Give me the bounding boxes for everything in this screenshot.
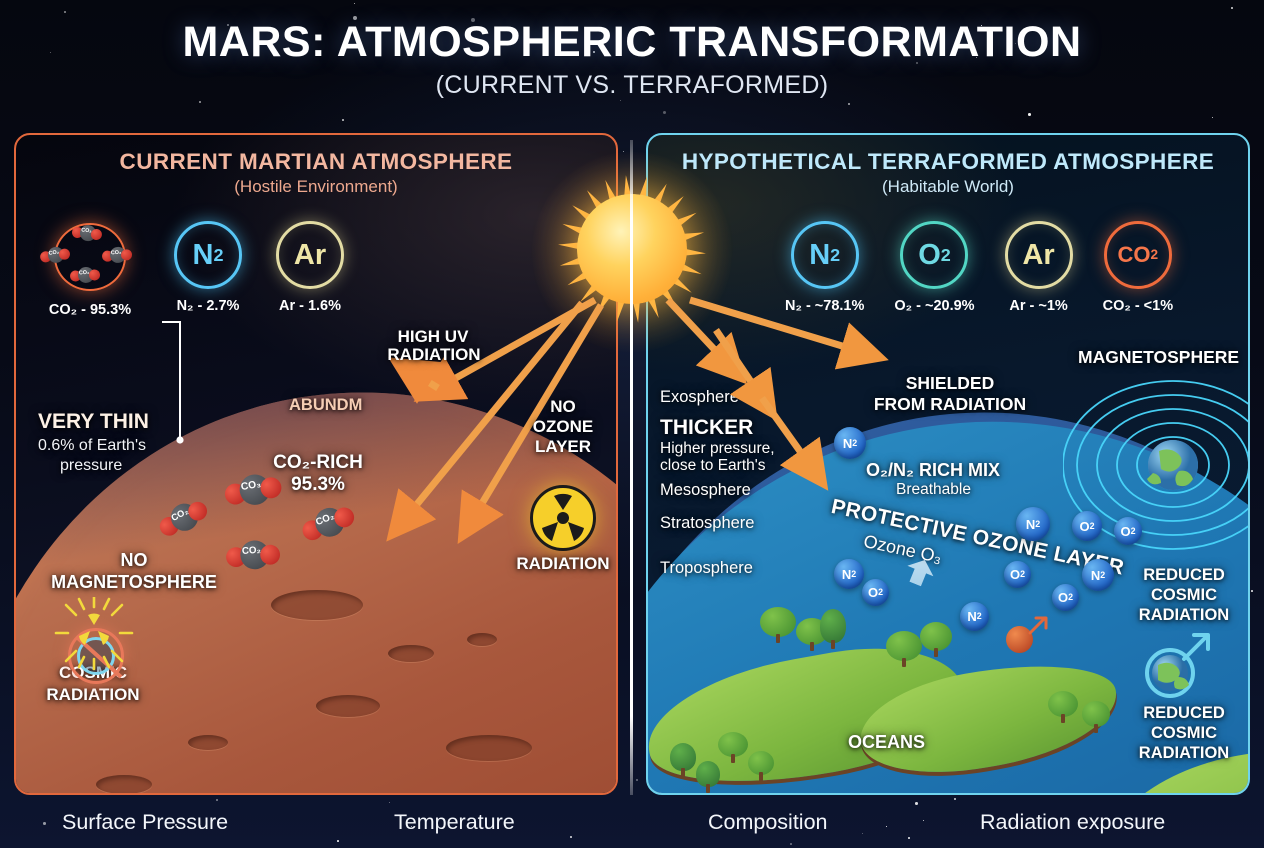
reduced-cosmic-top-1: REDUCED bbox=[1116, 566, 1250, 585]
o2-ring-icon: O2 bbox=[900, 221, 968, 289]
page-subtitle: (CURRENT VS. TERRAFORMED) bbox=[0, 71, 1264, 100]
crater bbox=[467, 633, 497, 646]
panel-divider bbox=[630, 140, 633, 795]
thicker-sub-2: close to Earth's bbox=[660, 457, 765, 475]
molecule-ar[interactable]: Ar Ar - ~1% bbox=[1005, 221, 1073, 314]
right-panel-header: HYPOTHETICAL TERRAFORMED ATMOSPHERE (Hab… bbox=[648, 149, 1248, 197]
very-thin-label: VERY THIN bbox=[38, 410, 149, 434]
left-panel-title: CURRENT MARTIAN ATMOSPHERE bbox=[16, 149, 616, 175]
shielded-line-2: FROM RADIATION bbox=[840, 394, 1060, 415]
footer-item-surface-pressure[interactable]: Surface Pressure bbox=[62, 810, 228, 835]
tree-icon bbox=[1048, 691, 1078, 723]
molecule-label: N₂ - ~78.1% bbox=[785, 298, 864, 314]
terraformed-atmosphere-panel: HYPOTHETICAL TERRAFORMED ATMOSPHERE (Hab… bbox=[646, 133, 1250, 795]
reduced-cosmic-top-3: RADIATION bbox=[1116, 606, 1250, 625]
shielded-line-1: SHIELDED bbox=[860, 373, 1040, 394]
crater bbox=[446, 735, 532, 761]
reduced-cosmic-bottom-1: REDUCED bbox=[1116, 704, 1250, 723]
co2-ring-icon: CO2 bbox=[1104, 221, 1172, 289]
tree-icon bbox=[760, 605, 796, 643]
mars-arrow-icon bbox=[1026, 613, 1052, 639]
molecule-co2[interactable]: CO₂ CO₂ CO₂ CO₂ CO₂ - 95.3% bbox=[40, 221, 140, 318]
left-panel-header: CURRENT MARTIAN ATMOSPHERE (Hostile Envi… bbox=[16, 149, 616, 197]
molecule-label: Ar - 1.6% bbox=[276, 298, 344, 314]
tree-icon bbox=[1082, 701, 1110, 733]
gas-bubble-o2: O2 bbox=[862, 579, 889, 606]
reduced-cosmic-bottom-3: RADIATION bbox=[1116, 744, 1250, 763]
gas-bubble-n2: N2 bbox=[1016, 507, 1050, 541]
thicker-label: THICKER bbox=[660, 416, 753, 440]
n2-ring-icon: N2 bbox=[791, 221, 859, 289]
high-uv-line-2: RADIATION bbox=[366, 345, 502, 365]
no-ozone-line-1: NO bbox=[508, 397, 618, 417]
magnetosphere-label: MAGNETOSPHERE bbox=[1078, 347, 1239, 368]
no-magnetosphere-line-2: MAGNETOSPHERE bbox=[16, 572, 252, 593]
high-uv-line-1: HIGH UV bbox=[373, 327, 493, 347]
tree-icon bbox=[718, 731, 748, 763]
reduced-cosmic-bottom-2: COSMIC bbox=[1116, 724, 1250, 743]
gas-bubble-o2: O2 bbox=[1072, 511, 1102, 541]
footer-item-radiation-exposure[interactable]: Radiation exposure bbox=[980, 810, 1165, 835]
page-title: MARS: ATMOSPHERIC TRANSFORMATION bbox=[0, 18, 1264, 67]
oceans-label: OCEANS bbox=[848, 732, 925, 753]
gas-bubble-n2: N2 bbox=[960, 602, 989, 631]
molecule-o2[interactable]: O2 O₂ - ~20.9% bbox=[894, 221, 974, 314]
tree-icon bbox=[696, 761, 720, 793]
gas-bubble-n2: N2 bbox=[834, 427, 866, 459]
co2-cluster-icon: CO₂ CO₂ CO₂ CO₂ bbox=[40, 221, 140, 293]
right-panel-title: HYPOTHETICAL TERRAFORMED ATMOSPHERE bbox=[648, 149, 1248, 175]
tree-icon bbox=[920, 621, 952, 657]
layer-label-troposphere: Troposphere bbox=[660, 559, 753, 578]
crater bbox=[388, 645, 434, 662]
molecule-co2[interactable]: CO2 CO₂ - <1% bbox=[1103, 221, 1174, 314]
molecule-label: CO₂ - <1% bbox=[1103, 298, 1174, 314]
header: MARS: ATMOSPHERIC TRANSFORMATION (CURREN… bbox=[0, 18, 1264, 100]
abundm-label: ABUNDM bbox=[289, 396, 362, 415]
breathable-label: Breathable bbox=[896, 481, 971, 499]
ar-ring-icon: Ar bbox=[276, 221, 344, 289]
crater bbox=[271, 590, 363, 620]
n2-ring-icon: N2 bbox=[174, 221, 242, 289]
footer-item-temperature[interactable]: Temperature bbox=[394, 810, 515, 835]
radiation-badge bbox=[530, 485, 596, 551]
footer-item-composition[interactable]: Composition bbox=[708, 810, 828, 835]
rich-mix-label: O₂/N₂ RICH MIX bbox=[866, 460, 1000, 481]
left-molecule-list: CO₂ CO₂ CO₂ CO₂ CO₂ - 95.3% N2 N₂ - 2.7%… bbox=[40, 221, 344, 318]
left-panel-subtitle: (Hostile Environment) bbox=[16, 177, 616, 197]
gas-bubble-o2: O2 bbox=[1114, 517, 1142, 545]
radiation-label: RADIATION bbox=[497, 554, 629, 574]
tree-icon bbox=[820, 609, 846, 649]
co2-rich-line-1: CO₂-RICH bbox=[238, 452, 398, 474]
gas-bubble-n2: N2 bbox=[1082, 559, 1114, 591]
layer-label-exosphere: Exosphere bbox=[660, 388, 739, 407]
molecule-ar[interactable]: Ar Ar - 1.6% bbox=[276, 221, 344, 318]
tree-icon bbox=[886, 629, 922, 667]
crater bbox=[96, 775, 152, 794]
thicker-sub-1: Higher pressure, bbox=[660, 440, 775, 458]
pressure-line-2: pressure bbox=[60, 457, 122, 475]
tree-icon bbox=[670, 743, 696, 777]
pressure-line-1: 0.6% of Earth's bbox=[38, 437, 146, 455]
cosmic-radiation-line-2: RADIATION bbox=[28, 685, 158, 705]
layer-label-stratosphere: Stratosphere bbox=[660, 514, 754, 533]
ar-ring-icon: Ar bbox=[1005, 221, 1073, 289]
no-ozone-line-2: OZONE bbox=[508, 417, 618, 437]
molecule-label: O₂ - ~20.9% bbox=[894, 298, 974, 314]
right-panel-subtitle: (Habitable World) bbox=[648, 177, 1248, 197]
molecule-n2[interactable]: N2 N₂ - 2.7% bbox=[174, 221, 242, 318]
gas-bubble-o2: O2 bbox=[1004, 561, 1031, 588]
molecule-n2[interactable]: N2 N₂ - ~78.1% bbox=[785, 221, 864, 314]
current-atmosphere-panel: CURRENT MARTIAN ATMOSPHERE (Hostile Envi… bbox=[14, 133, 618, 795]
molecule-label: N₂ - 2.7% bbox=[174, 298, 242, 314]
no-ozone-line-3: LAYER bbox=[508, 437, 618, 457]
tree-icon bbox=[748, 751, 774, 781]
reduced-cosmic-top-2: COSMIC bbox=[1116, 586, 1250, 605]
gas-bubble-o2: O2 bbox=[1052, 584, 1079, 611]
footer: Surface Pressure Temperature Composition… bbox=[0, 800, 1264, 848]
co2-rich-line-2: 95.3% bbox=[238, 474, 398, 496]
cosmic-burst-icon bbox=[46, 597, 142, 677]
right-molecule-list: N2 N₂ - ~78.1% O2 O₂ - ~20.9% Ar Ar - ~1… bbox=[785, 221, 1173, 314]
layer-label-mesosphere: Mesosphere bbox=[660, 481, 751, 500]
molecule-label: CO₂ - 95.3% bbox=[40, 302, 140, 318]
crater bbox=[316, 695, 380, 717]
mars-symbol-earth-icon bbox=[1138, 625, 1218, 705]
gas-bubble-n2: N2 bbox=[834, 559, 864, 589]
no-magnetosphere-line-1: NO bbox=[34, 550, 234, 571]
crater bbox=[188, 735, 228, 750]
molecule-label: Ar - ~1% bbox=[1005, 298, 1073, 314]
